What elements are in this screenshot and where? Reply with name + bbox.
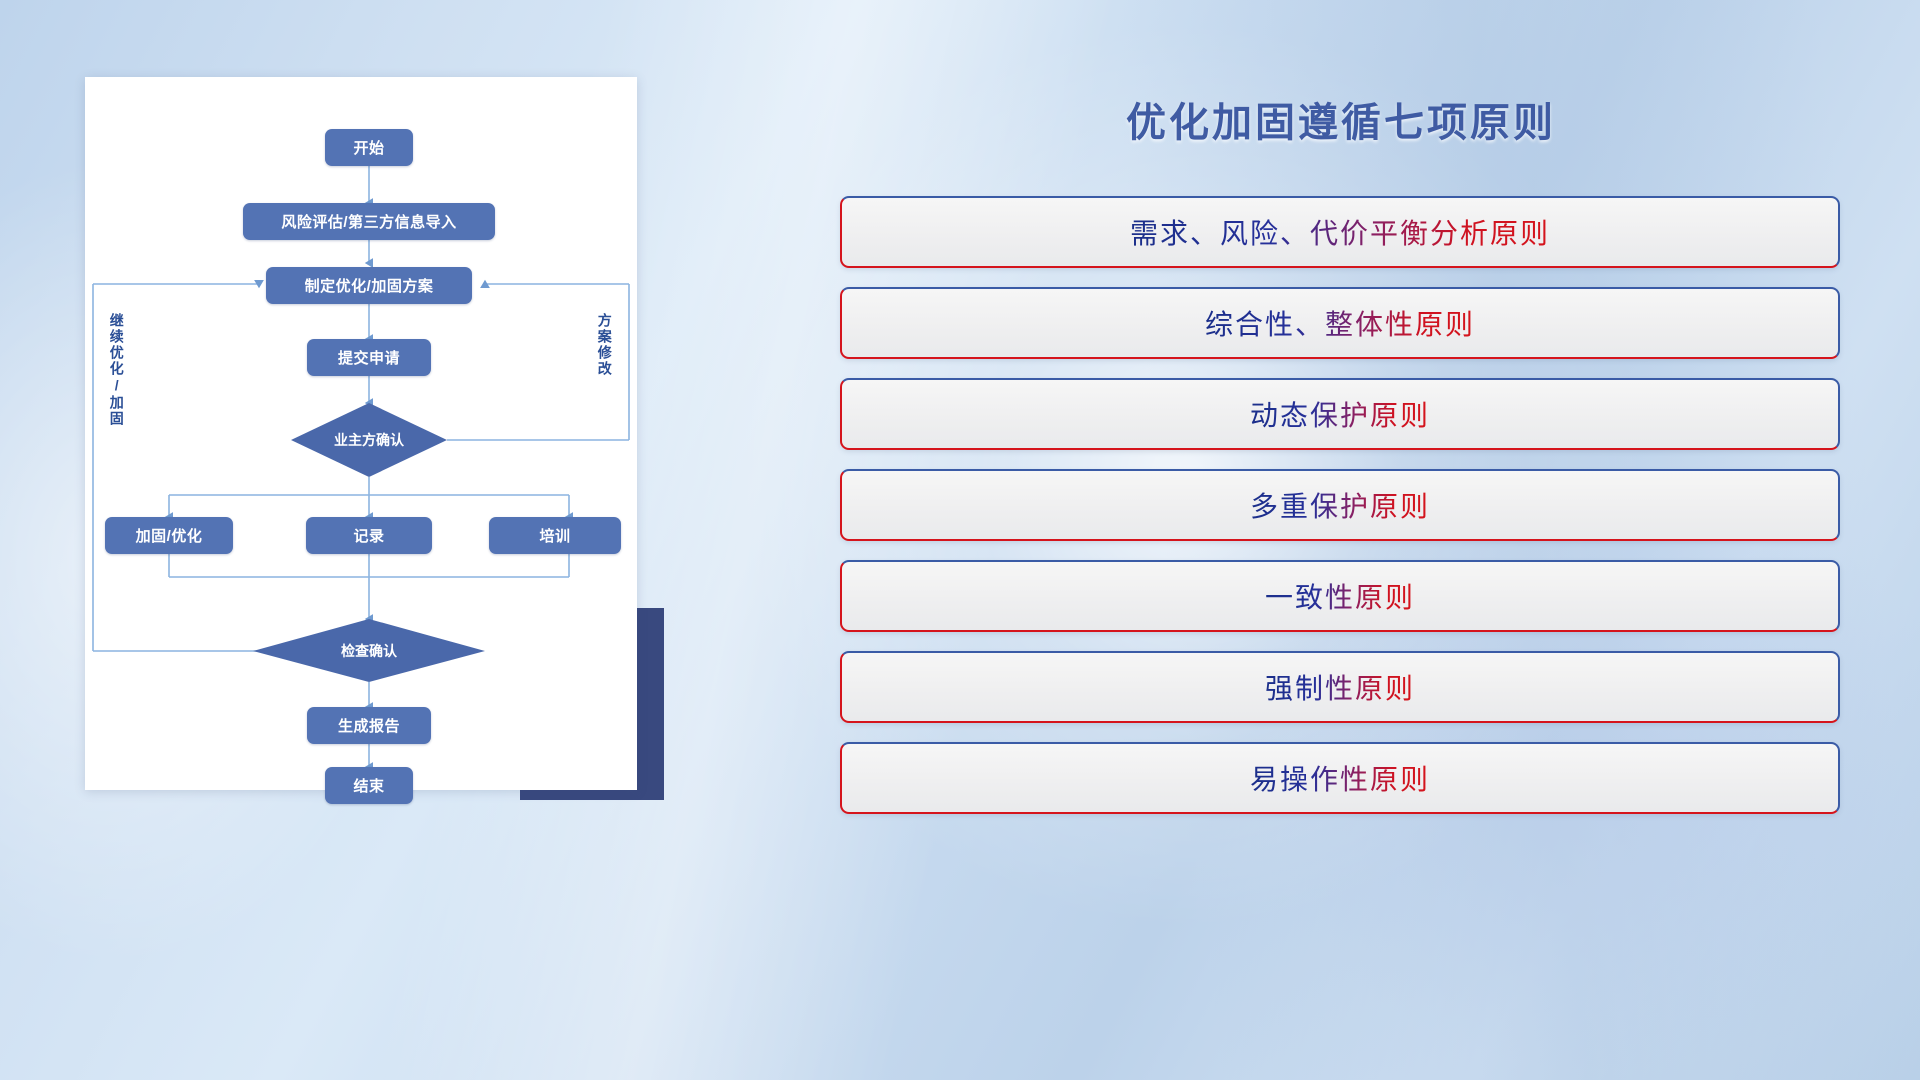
flow-node-end[interactable]: 结束: [325, 767, 413, 804]
principle-item-5[interactable]: 一致性原则: [840, 560, 1840, 632]
principle-item-1-label: 需求、风险、代价平衡分析原则: [1130, 212, 1550, 252]
principles-panel: 优化加固遵循七项原则 需求、风险、代价平衡分析原则 综合性、整体性原则 动态保护…: [836, 74, 1846, 1014]
principle-item-4-label: 多重保护原则: [1250, 485, 1430, 525]
principle-item-3-label: 动态保护原则: [1250, 394, 1430, 434]
principle-item-4[interactable]: 多重保护原则: [840, 469, 1840, 541]
page-title: 优化加固遵循七项原则: [836, 90, 1846, 148]
principle-item-5-label: 一致性原则: [1265, 576, 1415, 616]
flow-node-record[interactable]: 记录: [306, 517, 432, 554]
flow-node-record-label: 记录: [353, 525, 384, 546]
flow-node-training[interactable]: 培训: [489, 517, 621, 554]
flow-node-reinforce-label: 加固/优化: [136, 525, 203, 546]
principle-item-3[interactable]: 动态保护原则: [840, 378, 1840, 450]
principle-item-7-label: 易操作性原则: [1250, 758, 1430, 798]
principle-item-1[interactable]: 需求、风险、代价平衡分析原则: [840, 196, 1840, 268]
flow-node-risk-assessment[interactable]: 风险评估/第三方信息导入: [243, 203, 495, 240]
flow-node-start[interactable]: 开始: [325, 129, 413, 166]
edge-label-plan-revision: 方案修改: [597, 313, 612, 377]
flowchart-connectors: [85, 77, 637, 790]
principle-item-7[interactable]: 易操作性原则: [840, 742, 1840, 814]
principle-item-2[interactable]: 综合性、整体性原则: [840, 287, 1840, 359]
decision-owner-confirm-shape: [291, 403, 447, 477]
flow-node-start-label: 开始: [353, 137, 384, 158]
flow-node-reinforce[interactable]: 加固/优化: [105, 517, 233, 554]
flow-node-plan[interactable]: 制定优化/加固方案: [266, 267, 472, 304]
flowchart-card: 开始 风险评估/第三方信息导入 制定优化/加固方案 提交申请 业主方确认 加固/…: [85, 77, 637, 790]
slide-canvas: 开始 风险评估/第三方信息导入 制定优化/加固方案 提交申请 业主方确认 加固/…: [0, 0, 1920, 1080]
principle-item-2-label: 综合性、整体性原则: [1205, 303, 1475, 343]
flow-node-report-label: 生成报告: [338, 715, 400, 736]
flow-node-submit-label: 提交申请: [338, 347, 400, 368]
edge-label-continue-optimize: 继续优化/加固: [109, 313, 124, 427]
flow-node-training-label: 培训: [539, 525, 570, 546]
flow-node-plan-label: 制定优化/加固方案: [305, 275, 434, 296]
decision-check-confirm-shape: [253, 619, 485, 682]
flow-node-end-label: 结束: [353, 775, 384, 796]
flow-node-report[interactable]: 生成报告: [307, 707, 431, 744]
flow-node-submit[interactable]: 提交申请: [307, 339, 431, 376]
principle-item-6-label: 强制性原则: [1265, 667, 1415, 707]
principle-item-6[interactable]: 强制性原则: [840, 651, 1840, 723]
flow-node-risk-assessment-label: 风险评估/第三方信息导入: [281, 211, 456, 232]
